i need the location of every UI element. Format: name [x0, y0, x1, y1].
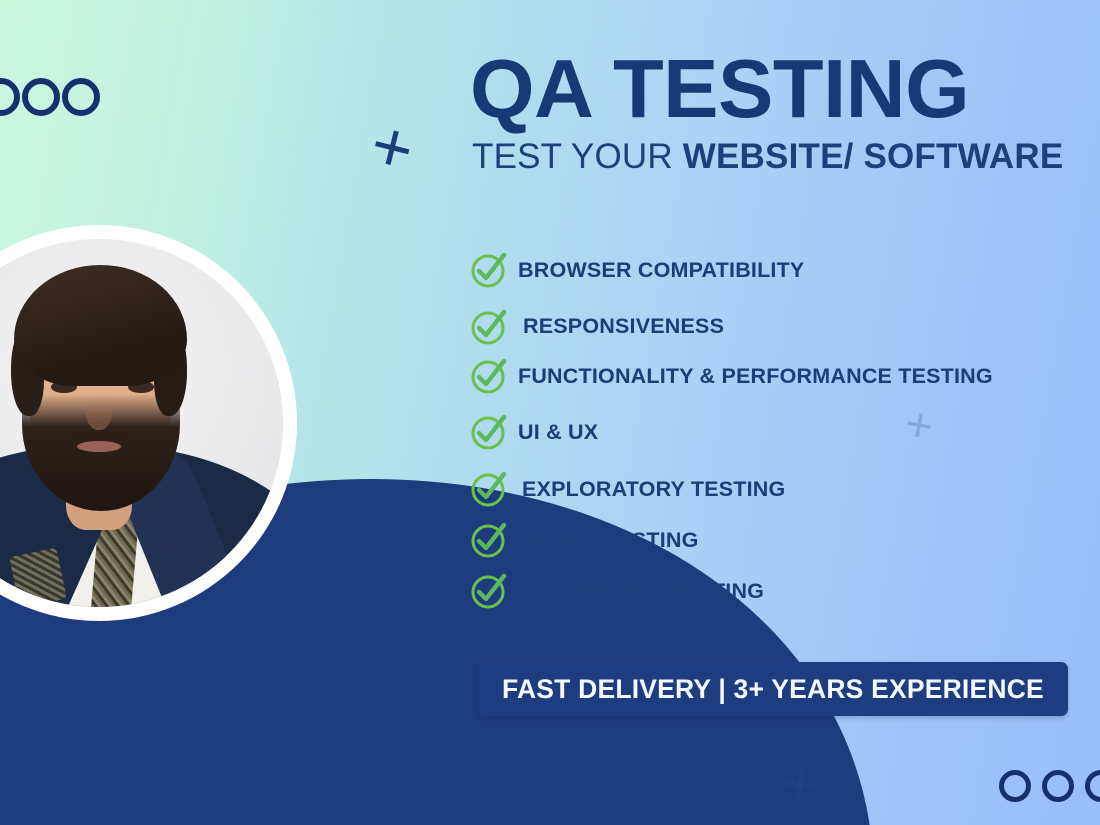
list-item-label: FUNCTIONALITY & PERFORMANCE TESTING	[518, 364, 993, 389]
check-circle-icon	[468, 411, 510, 453]
list-item-label: BROWSER COMPATIBILITY	[518, 258, 804, 283]
check-circle-icon	[468, 355, 510, 397]
check-circle-icon	[468, 249, 510, 291]
list-item-label: RESPONSIVENESS	[518, 314, 724, 339]
list-item-label: REGRESSION TESTING	[518, 579, 764, 604]
check-circle-icon	[468, 570, 510, 612]
cta-banner-label: FAST DELIVERY | 3+ YEARS EXPERIENCE	[502, 674, 1044, 705]
list-item-label: EXPLORATORY TESTING	[518, 477, 785, 502]
check-circle-icon	[468, 519, 510, 561]
list-item-label: SMOKE TESTING	[518, 528, 699, 553]
avatar	[0, 232, 290, 614]
portrait-photo	[0, 239, 283, 607]
cta-banner[interactable]: FAST DELIVERY | 3+ YEARS EXPERIENCE	[478, 662, 1068, 716]
list-item: REGRESSION TESTING	[468, 569, 1068, 613]
list-item: RESPONSIVENESS	[468, 305, 1068, 349]
list-item: UI & UX	[468, 410, 1068, 454]
qa-testing-banner: + + + QA TE	[0, 0, 1100, 825]
check-circle-icon	[468, 306, 510, 348]
check-circle-icon	[468, 468, 510, 510]
portrait-nose	[86, 394, 112, 431]
decorative-circle-top-left-3	[62, 78, 100, 116]
list-item: EXPLORATORY TESTING	[468, 467, 1068, 511]
list-item: FUNCTIONALITY & PERFORMANCE TESTING	[468, 354, 1068, 398]
decorative-plus-top: +	[364, 108, 421, 186]
list-item: BROWSER COMPATIBILITY	[468, 248, 1068, 292]
decorative-circle-bottom-right-3	[1085, 770, 1100, 802]
decorative-circle-top-left-2	[22, 78, 60, 116]
headline-block: QA TESTING TEST YOUR WEBSITE/ SOFTWARE	[470, 48, 1082, 174]
decorative-circle-bottom-right-2	[1042, 770, 1074, 802]
page-title: QA TESTING	[470, 48, 1082, 129]
list-item: SMOKE TESTING	[468, 518, 1068, 562]
feature-list: BROWSER COMPATIBILITY RESPONSIVENESS FUN…	[468, 248, 1068, 625]
page-subtitle: TEST YOUR WEBSITE/ SOFTWARE	[472, 139, 1082, 174]
decorative-circle-bottom-right-1	[999, 770, 1031, 802]
subtitle-prefix: TEST YOUR	[472, 137, 683, 176]
list-item-label: UI & UX	[518, 420, 598, 445]
decorative-circle-top-left-1	[0, 78, 20, 116]
subtitle-strong: WEBSITE/ SOFTWARE	[683, 137, 1064, 176]
